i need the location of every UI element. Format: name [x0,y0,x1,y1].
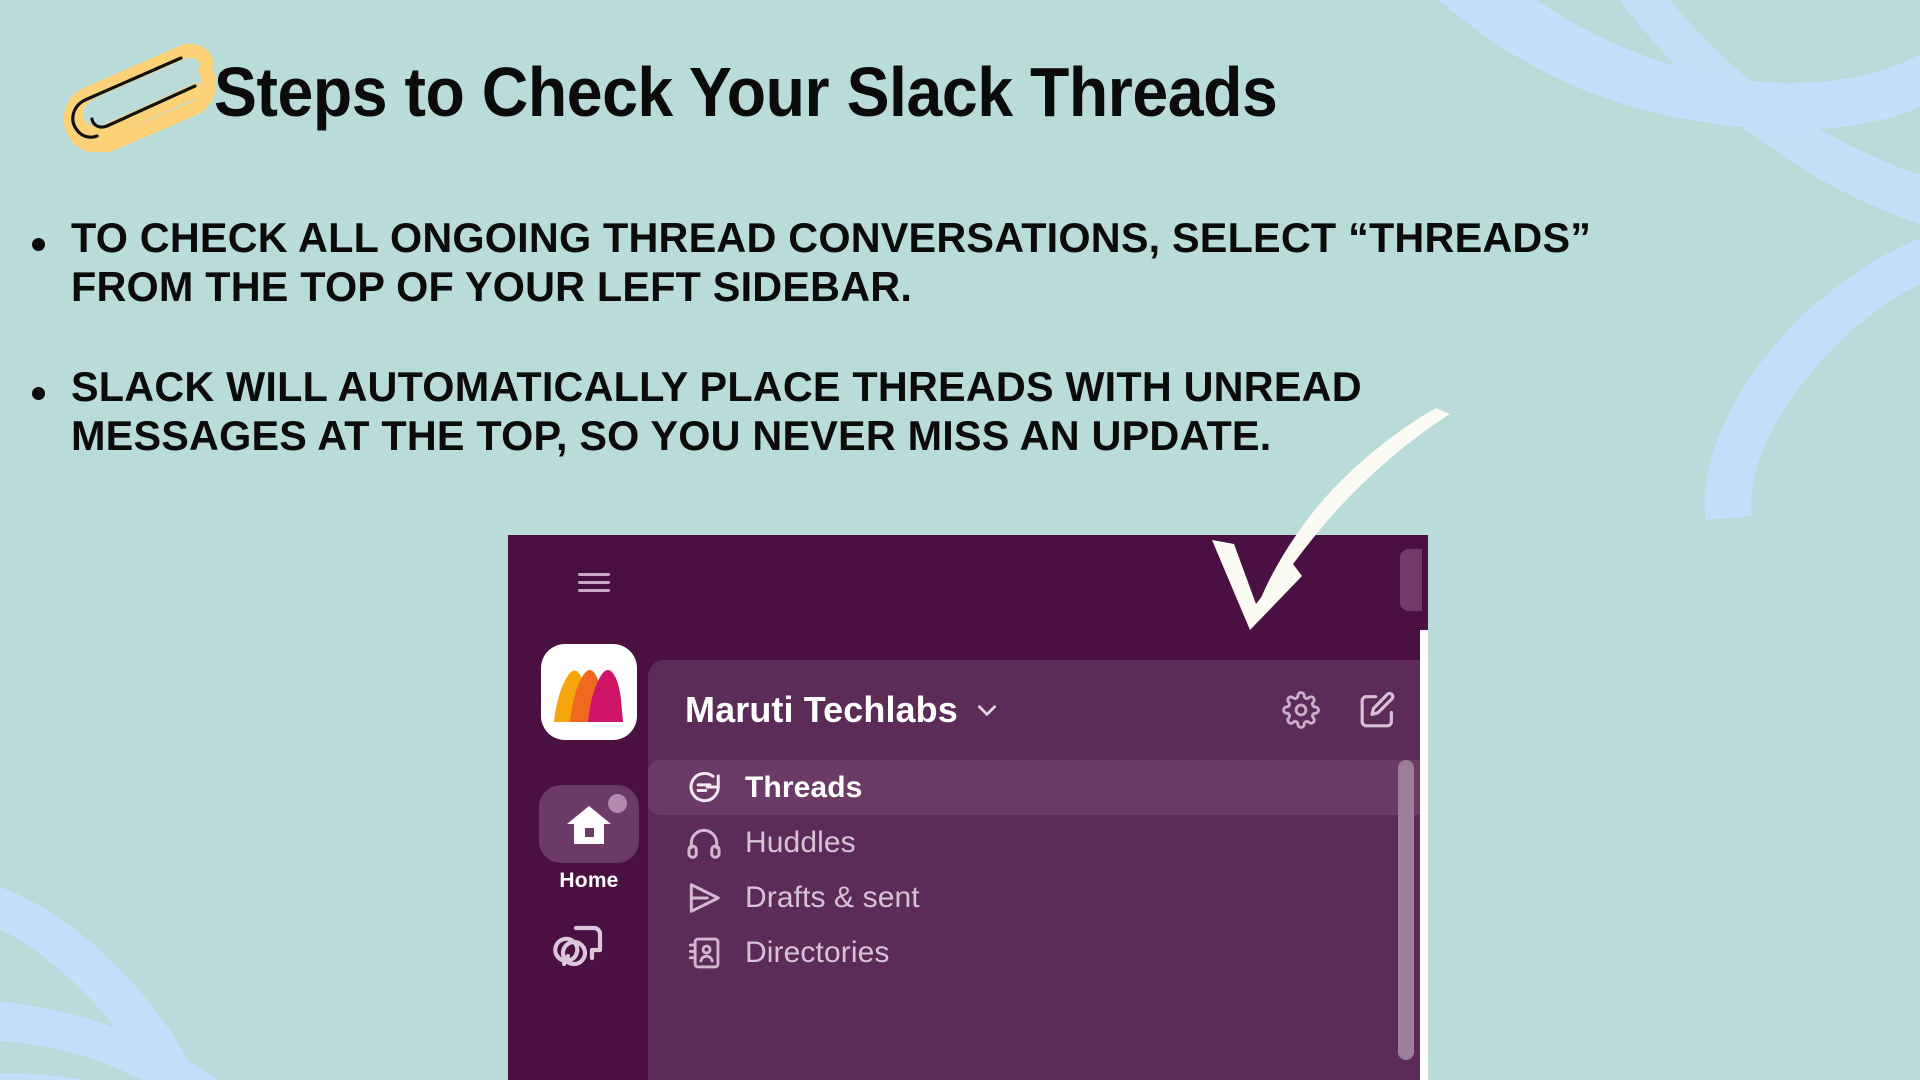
sidebar-item-label: Drafts & sent [745,881,920,915]
window-edge-tab [1400,549,1422,611]
slack-sidebar-panel: Maruti Techlabs Threads [648,660,1428,1080]
sidebar-item-huddles[interactable]: Huddles [648,815,1428,870]
paperclip-icon [55,32,220,152]
sidebar-item-label: Home [539,869,639,893]
gear-icon[interactable] [1282,691,1320,729]
maruti-techlabs-logo-icon[interactable] [541,644,637,740]
bullet-dot-icon [32,387,45,400]
sidebar-scrollbar[interactable] [1398,760,1414,1060]
bullet-text: TO CHECK ALL ONGOING THREAD CONVERSATION… [71,214,1591,311]
workspace-name[interactable]: Maruti Techlabs [685,689,958,731]
compose-pencil-icon[interactable] [1358,690,1398,730]
list-item: TO CHECK ALL ONGOING THREAD CONVERSATION… [22,214,1912,311]
direct-messages-icon [552,920,612,976]
bullet-list: TO CHECK ALL ONGOING THREAD CONVERSATION… [22,214,1912,513]
sidebar-item-drafts-and-sent[interactable]: Drafts & sent [648,870,1428,925]
unread-dot-badge [608,794,627,813]
threads-bubble-icon [685,769,723,807]
sidebar-item-directories[interactable]: Directories [648,925,1428,980]
workspace-header: Maruti Techlabs [648,660,1428,760]
window-right-edge [1420,630,1428,1080]
slack-left-rail: Home [508,630,648,1080]
home-icon [565,802,613,846]
sidebar-item-label: Threads [745,771,862,805]
sidebar-item-label: Directories [745,936,889,970]
contact-card-icon [685,934,723,972]
bullet-dot-icon [32,238,45,251]
sidebar-item-dms[interactable] [552,920,620,980]
page-title: Steps to Check Your Slack Threads [214,57,1277,127]
hamburger-icon[interactable] [578,573,610,593]
bullet-text: SLACK WILL AUTOMATICALLY PLACE THREADS W… [71,363,1362,460]
sidebar-item-threads[interactable]: Threads [648,760,1428,815]
slide-title-row: Steps to Check Your Slack Threads [55,38,1370,146]
chevron-down-icon[interactable] [974,697,1000,723]
list-item: SLACK WILL AUTOMATICALLY PLACE THREADS W… [22,363,1912,460]
sidebar-item-label: Huddles [745,826,856,860]
home-tile[interactable] [539,785,639,863]
slack-app-screenshot: Home Maruti Techlabs [508,535,1428,1080]
headphones-icon [685,824,723,862]
sidebar-item-home[interactable]: Home [539,785,639,885]
slack-titlebar [508,535,1428,630]
paper-plane-icon [685,879,723,917]
